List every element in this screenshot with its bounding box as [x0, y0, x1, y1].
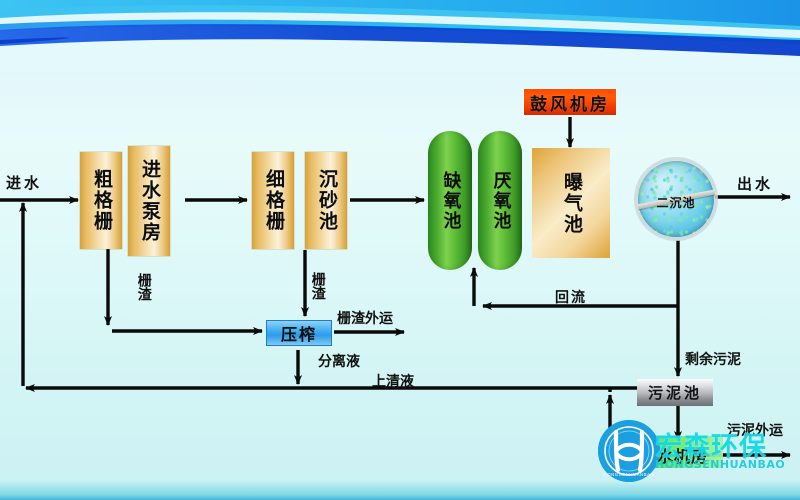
- hongsen-logo-mark: HONGSENHUANBAO: [598, 420, 660, 482]
- edge-label-screenings-1: 栅渣: [136, 273, 151, 301]
- edge-label-sludge-export: 污泥外运: [727, 420, 783, 440]
- label-inlet: 进水: [6, 172, 42, 193]
- node-grit-chamber-label: 沉砂池: [316, 169, 336, 232]
- node-inlet-pump-house-label: 进水泵房: [139, 159, 159, 243]
- node-anoxic-tank[interactable]: 缺氧池: [428, 131, 472, 270]
- node-coarse-screen-label: 粗格栅: [91, 169, 111, 232]
- edge-label-screenings-2: 栅渣: [310, 272, 325, 300]
- node-fine-screen-label: 细格栅: [263, 169, 283, 232]
- node-sludge-tank-label: 污泥池: [648, 382, 702, 403]
- node-press-label: 压榨: [281, 321, 317, 345]
- svg-text:HONGSENHUANBAO: HONGSENHUANBAO: [604, 472, 655, 477]
- node-secondary-clarifier[interactable]: 二沉池: [637, 160, 715, 238]
- node-anaerobic-tank-label: 厌氧池: [491, 171, 510, 231]
- node-secondary-clarifier-label: 二沉池: [637, 194, 715, 211]
- node-sludge-tank[interactable]: 污泥池: [637, 379, 713, 406]
- node-fine-screen[interactable]: 细格栅: [252, 152, 294, 249]
- edge-label-return-sludge: 回流: [555, 287, 587, 307]
- node-blower-room[interactable]: 鼓风机房: [523, 88, 617, 116]
- flow-connectors: [0, 0, 800, 500]
- node-aeration-tank-label: 曝气池: [561, 172, 581, 235]
- node-inlet-pump-house[interactable]: 进水泵房: [128, 146, 170, 256]
- node-anaerobic-tank[interactable]: 厌氧池: [478, 131, 522, 270]
- edge-label-screenings-export: 栅渣外运: [337, 308, 393, 328]
- hongsen-logo: HONGSENHUANBAO: [598, 420, 660, 482]
- node-aeration-tank[interactable]: 曝气池: [532, 148, 610, 258]
- node-anoxic-tank-label: 缺氧池: [441, 171, 460, 231]
- node-coarse-screen[interactable]: 粗格栅: [80, 152, 122, 249]
- edge-label-excess-sludge: 剩余污泥: [685, 349, 741, 369]
- edge-label-separated-liquid: 分离液: [318, 351, 360, 371]
- edge-label-supernatant: 上清液: [372, 371, 414, 391]
- node-grit-chamber[interactable]: 沉砂池: [305, 152, 347, 249]
- node-press[interactable]: 压榨: [266, 320, 332, 346]
- diagram-canvas: 进水 粗格栅 进水泵房 细格栅 沉砂池 缺氧池 厌氧池 曝气池 鼓风机房 二沉池…: [0, 0, 800, 500]
- label-outlet: 出水: [737, 173, 773, 194]
- node-blower-room-label: 鼓风机房: [530, 90, 610, 115]
